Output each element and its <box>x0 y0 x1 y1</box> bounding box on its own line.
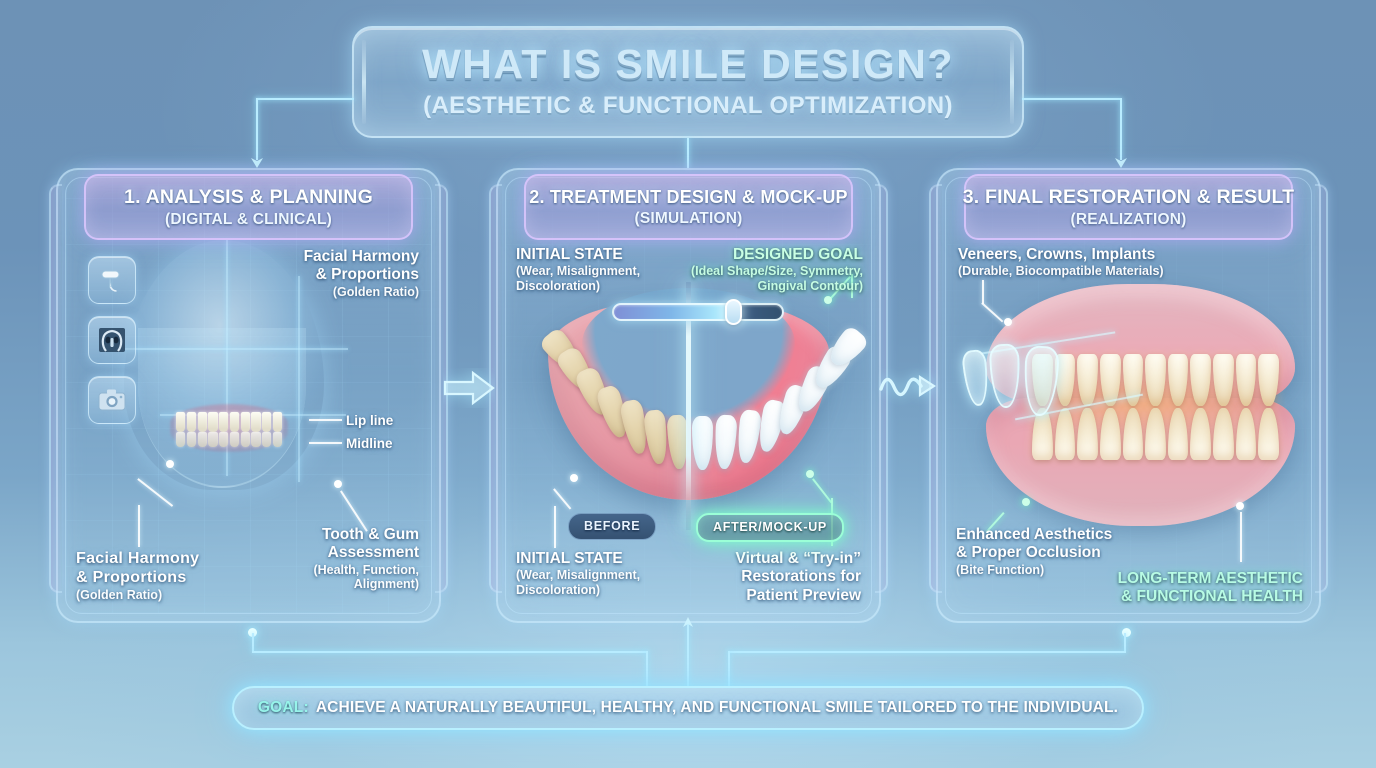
before-after-slider[interactable] <box>612 300 784 324</box>
callout-midline: Midline <box>346 435 393 454</box>
upper-teeth-row-final <box>1032 354 1279 406</box>
arrow-up-icon <box>680 616 696 630</box>
panel-final-restoration-result[interactable]: Veneers, Crowns, Implants (Durable, Bioc… <box>936 168 1321 623</box>
page-subtitle: (AESTHETIC & FUNCTIONAL OPTIMIZATION) <box>423 92 953 120</box>
label-designed-goal: DESIGNED GOAL (Ideal Shape/Size, Symmetr… <box>673 246 863 294</box>
final-dental-model-illustration <box>962 282 1301 532</box>
upper-teeth-row <box>176 412 282 432</box>
leader-dot-tooth-gum <box>334 480 342 488</box>
goal-text: ACHIEVE A NATURALLY BEAUTIFUL, HEALTHY, … <box>316 699 1118 717</box>
connector-center-up <box>687 624 689 686</box>
connector-title-right-h <box>1022 98 1120 100</box>
connector-left-across <box>252 651 648 653</box>
pill-before[interactable]: BEFORE <box>568 513 656 540</box>
lower-teeth-row <box>176 432 282 447</box>
panel-3-content: Veneers, Crowns, Implants (Durable, Bioc… <box>945 177 1312 614</box>
connector-left-into-goal <box>646 651 648 687</box>
label-facial-harmony-top-sub: (Golden Ratio) <box>234 285 419 300</box>
panel-1-subtitle: (DIGITAL & CLINICAL) <box>165 211 332 229</box>
connector-right-down <box>1124 633 1126 651</box>
goal-banner: GOAL: ACHIEVE A NATURALLY BEAUTIFUL, HEA… <box>232 686 1144 730</box>
arrow-down-right-icon <box>1112 155 1130 169</box>
leader-initial-state-v <box>554 506 556 548</box>
connector-left-down <box>252 633 254 651</box>
connector-title-right-v <box>1120 98 1122 160</box>
leader-veneers-v <box>982 280 984 304</box>
wavy-arrow-right-icon <box>878 363 940 411</box>
leader-dot-long-term <box>1236 502 1244 510</box>
leader-dot-initial-state <box>570 474 578 482</box>
lower-teeth-row-final <box>1032 408 1279 460</box>
label-facial-harmony-top-title: Facial Harmony <box>234 248 419 266</box>
panel-2-title: 2. TREATMENT DESIGN & MOCK-UP <box>529 187 847 208</box>
leader-lip-line <box>309 419 342 421</box>
leader-dot-tryin <box>806 470 814 478</box>
arrow-down-left-icon <box>248 155 266 169</box>
arrow-right-icon-1 <box>443 368 495 408</box>
connector-title-left-h <box>256 98 354 100</box>
xray-radiograph-icon[interactable] <box>88 316 136 364</box>
label-facial-harmony-top: Facial Harmony & Proportions (Golden Rat… <box>234 248 419 299</box>
leader-dot-enhanced-aesthetics <box>1022 498 1030 506</box>
panel-3-subtitle: (REALIZATION) <box>1071 211 1187 229</box>
horizontal-guide-eye <box>120 348 348 350</box>
connector-title-left-v <box>256 98 258 160</box>
goal-keyword: GOAL: <box>258 699 309 717</box>
leader-dot-facial-harmony <box>166 460 174 468</box>
panel-2-header: 2. TREATMENT DESIGN & MOCK-UP (SIMULATIO… <box>524 174 853 240</box>
leader-dot-veneers <box>1004 318 1012 326</box>
panel-analysis-planning[interactable]: Facial Harmony & Proportions (Golden Rat… <box>56 168 441 623</box>
leader-dot-designed-goal <box>824 296 832 304</box>
slider-thumb[interactable] <box>725 299 742 325</box>
slider-track[interactable] <box>612 303 784 321</box>
label-virtual-tryin: Virtual & “Try-in” Restorations for Pati… <box>691 550 861 605</box>
label-tooth-gum-assessment: Tooth & Gum Assessment (Health, Function… <box>244 526 419 592</box>
label-initial-state-top: INITIAL STATE (Wear, Misalignment, Disco… <box>516 246 676 294</box>
infographic-canvas: WHAT IS SMILE DESIGN? (AESTHETIC & FUNCT… <box>0 0 1376 768</box>
panel-1-content: Facial Harmony & Proportions (Golden Rat… <box>65 177 432 614</box>
panel-2-subtitle: (SIMULATION) <box>634 210 742 228</box>
label-veneers-crowns-implants: Veneers, Crowns, Implants (Durable, Bioc… <box>958 246 1208 279</box>
panel-1-header: 1. ANALYSIS & PLANNING (DIGITAL & CLINIC… <box>84 174 413 240</box>
leader-long-term-v <box>1240 512 1242 562</box>
label-initial-state-bottom: INITIAL STATE (Wear, Misalignment, Disco… <box>516 550 681 598</box>
label-facial-harmony-bottom: Facial Harmony & Proportions (Golden Rat… <box>76 550 251 603</box>
label-long-term-health: LONG-TERM AESTHETIC & FUNCTIONAL HEALTH <box>1088 570 1303 607</box>
panel-1-title: 1. ANALYSIS & PLANNING <box>124 186 373 209</box>
vertical-guide-right <box>298 276 300 482</box>
intraoral-scanner-icon[interactable] <box>88 256 136 304</box>
pill-after[interactable]: AFTER/MOCK-UP <box>696 513 844 542</box>
panel-2-content: INITIAL STATE (Wear, Misalignment, Disco… <box>505 177 872 614</box>
label-facial-harmony-top-title2: & Proportions <box>234 266 419 284</box>
leader-midline <box>309 442 342 444</box>
panel-treatment-design-mockup[interactable]: INITIAL STATE (Wear, Misalignment, Disco… <box>496 168 881 623</box>
panel-3-header: 3. FINAL RESTORATION & RESULT (REALIZATI… <box>964 174 1293 240</box>
page-title: WHAT IS SMILE DESIGN? <box>422 44 954 85</box>
connector-right-into-goal <box>728 651 730 687</box>
leader-facial-harmony-v <box>138 505 140 547</box>
connector-title-down-center <box>687 138 689 168</box>
page-title-box: WHAT IS SMILE DESIGN? (AESTHETIC & FUNCT… <box>352 26 1024 138</box>
camera-icon[interactable] <box>88 376 136 424</box>
callout-lip-line: Lip line <box>346 412 393 431</box>
connector-right-across <box>728 651 1126 653</box>
panel-3-title: 3. FINAL RESTORATION & RESULT <box>963 186 1295 209</box>
